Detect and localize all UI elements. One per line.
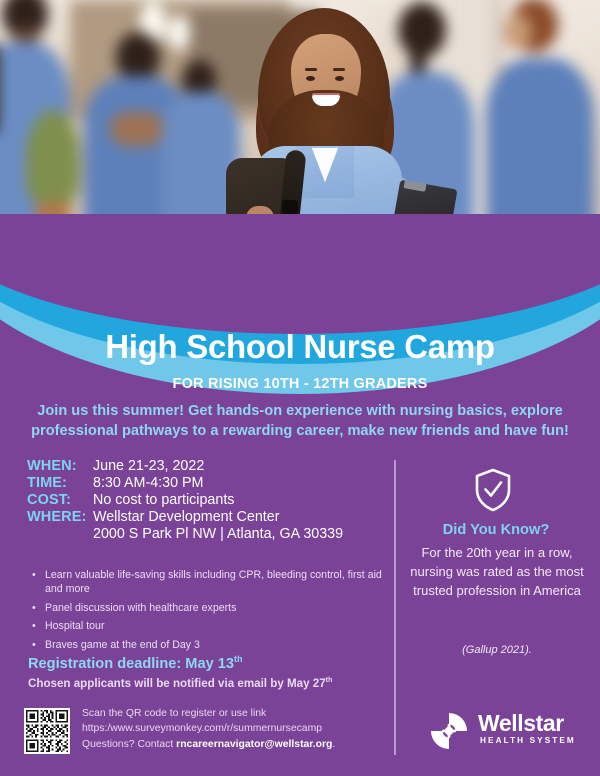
- shield-check-icon: [473, 468, 513, 512]
- flyer: High School Nurse Camp FOR RISING 10TH -…: [0, 0, 600, 776]
- subject-brow-left: [305, 68, 317, 71]
- registration-deadline-ordinal: th: [234, 654, 243, 664]
- page-subtitle: FOR RISING 10TH - 12TH GRADERS: [0, 376, 600, 392]
- detail-value-address: 2000 S Park Pl NW | Atlanta, GA 30339: [93, 526, 377, 542]
- did-you-know-source: (Gallup 2021).: [404, 644, 590, 656]
- bullet-dot-icon: •: [32, 638, 45, 652]
- qr-code-icon[interactable]: [24, 708, 70, 754]
- registration-block: Registration deadline: May 13th Chosen a…: [28, 654, 388, 690]
- detail-row-when: WHEN: June 21-23, 2022: [27, 458, 377, 474]
- list-item: • Learn valuable life-saving skills incl…: [32, 568, 382, 597]
- detail-label-where: WHERE:: [27, 509, 93, 525]
- qr-instructions: Scan the QR code to register or use link…: [82, 706, 382, 752]
- list-item-label: Panel discussion with healthcare experts: [45, 601, 382, 615]
- registration-notification-text: Chosen applicants will be notified via e…: [28, 677, 326, 690]
- detail-value-cost: No cost to participants: [93, 492, 234, 508]
- intro-paragraph: Join us this summer! Get hands-on experi…: [26, 402, 574, 441]
- registration-notification: Chosen applicants will be notified via e…: [28, 675, 388, 690]
- bullet-dot-icon: •: [32, 601, 45, 615]
- list-item-label: Hospital tour: [45, 619, 382, 633]
- subject-eye-right: [335, 76, 344, 81]
- list-item: • Braves game at the end of Day 3: [32, 638, 382, 652]
- qr-code[interactable]: [24, 708, 70, 754]
- qr-contact-email[interactable]: rncareernavigator@wellstar.org: [176, 739, 332, 750]
- detail-label-cost: COST:: [27, 492, 93, 508]
- detail-label-time: TIME:: [27, 475, 93, 491]
- list-item-label: Braves game at the end of Day 3: [45, 638, 382, 652]
- page-title: High School Nurse Camp: [0, 328, 600, 366]
- detail-value-time: 8:30 AM-4:30 PM: [93, 475, 203, 491]
- list-item: • Hospital tour: [32, 619, 382, 633]
- wellstar-wordmark: Wellstar: [478, 710, 564, 737]
- event-details: WHEN: June 21-23, 2022 TIME: 8:30 AM-4:3…: [27, 458, 377, 542]
- wellstar-tagline: HEALTH SYSTEM: [480, 736, 576, 745]
- wellstar-logo: Wellstar HEALTH SYSTEM: [428, 708, 578, 754]
- did-you-know-heading: Did You Know?: [398, 522, 594, 538]
- detail-row-where: WHERE: Wellstar Development Center: [27, 509, 377, 525]
- registration-deadline: Registration deadline: May 13th: [28, 654, 388, 672]
- qr-contact-suffix: .: [332, 739, 335, 750]
- detail-value-where: Wellstar Development Center: [93, 509, 279, 525]
- content-area: High School Nurse Camp FOR RISING 10TH -…: [0, 272, 600, 776]
- detail-value-when: June 21-23, 2022: [93, 458, 204, 474]
- detail-label-when: WHEN:: [27, 458, 93, 474]
- did-you-know-fact: For the 20th year in a row, nursing was …: [404, 544, 590, 601]
- wellstar-pinwheel-icon: [428, 710, 470, 752]
- column-divider: [394, 460, 396, 755]
- bullet-dot-icon: •: [32, 568, 45, 597]
- bullet-dot-icon: •: [32, 619, 45, 633]
- qr-contact-prefix: Questions? Contact: [82, 739, 176, 750]
- subject-eye-left: [306, 76, 315, 81]
- qr-contact-line: Questions? Contact rncareernavigator@wel…: [82, 737, 382, 752]
- list-item: • Panel discussion with healthcare exper…: [32, 601, 382, 615]
- subject-brow-right: [333, 68, 345, 71]
- detail-row-cost: COST: No cost to participants: [27, 492, 377, 508]
- program-highlights-list: • Learn valuable life-saving skills incl…: [32, 568, 382, 656]
- qr-registration-link[interactable]: https:/www.surveymonkey.com/r/summernurs…: [82, 721, 382, 736]
- registration-notification-ordinal: th: [326, 675, 333, 684]
- qr-line-1: Scan the QR code to register or use link: [82, 706, 382, 721]
- detail-row-time: TIME: 8:30 AM-4:30 PM: [27, 475, 377, 491]
- list-item-label: Learn valuable life-saving skills includ…: [45, 568, 382, 597]
- registration-deadline-text: Registration deadline: May 13: [28, 656, 234, 672]
- backpack-buckle: [282, 200, 298, 214]
